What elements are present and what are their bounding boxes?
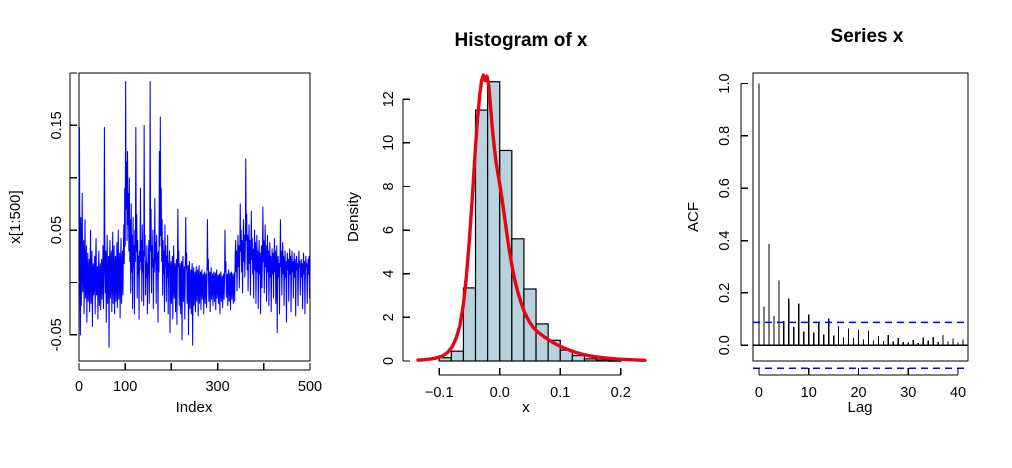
histogram-bar — [597, 360, 609, 361]
y-tick-label: 1.0 — [717, 73, 733, 93]
acf-title: Series x — [831, 26, 904, 47]
acf-plot-panel: Series x 0.00.20.40.60.81.0 010203040 La… — [676, 0, 1012, 468]
y-tick-label: 0 — [381, 357, 397, 365]
acf-spikes — [759, 83, 963, 345]
r-figure-panel-grid: -0.050.050.15 0100300500 Index x[1:500] … — [0, 0, 1012, 468]
y-tick-label: 2 — [381, 313, 397, 321]
histogram-bar — [572, 356, 584, 361]
histogram-bar — [584, 359, 596, 361]
x-tick-label: −0.1 — [425, 385, 454, 401]
y-tick-label: 0.6 — [717, 178, 733, 198]
y-tick-label: 0.8 — [717, 126, 733, 146]
timeseries-xlabel: Index — [176, 399, 213, 416]
x-tick-label: 0.1 — [550, 385, 570, 401]
timeseries-data-line — [79, 81, 310, 347]
x-tick-label: 0 — [75, 379, 83, 395]
y-tick-label: 10 — [381, 135, 397, 151]
histogram-title: Histogram of x — [454, 30, 587, 51]
acf-plot-box — [753, 73, 968, 361]
x-tick-label: 100 — [113, 379, 137, 395]
x-tick-label: 0 — [755, 385, 763, 401]
acf-ylabel: ACF — [685, 202, 702, 232]
histogram-bar — [536, 324, 548, 361]
x-tick-label: 40 — [950, 385, 966, 401]
y-tick-label: 0.4 — [717, 230, 733, 250]
y-tick-label: 12 — [381, 91, 397, 107]
timeseries-svg: -0.050.050.15 0100300500 Index x[1:500] — [0, 0, 340, 468]
acf-svg: Series x 0.00.20.40.60.81.0 010203040 La… — [676, 0, 1012, 468]
x-tick-label: 0.2 — [611, 385, 631, 401]
histogram-svg: Histogram of x 024681012 −0.10.00.10.2 x… — [336, 0, 676, 468]
x-tick-label: 300 — [205, 379, 229, 395]
y-tick-label: 0.0 — [717, 335, 733, 355]
histogram-ylabel: Density — [345, 191, 362, 242]
histogram-y-axis: 024681012 — [381, 91, 410, 365]
x-tick-label: 0.0 — [490, 385, 510, 401]
x-tick-label: 500 — [298, 379, 322, 395]
y-tick-label: 4 — [381, 270, 397, 278]
histogram-bar — [451, 351, 463, 361]
timeseries-x-axis: 0100300500 — [75, 363, 322, 395]
timeseries-ylabel: x[1:500] — [7, 190, 24, 243]
timeseries-plot-box — [79, 73, 310, 361]
y-tick-label: -0.05 — [49, 318, 65, 351]
x-tick-label: 30 — [900, 385, 916, 401]
histogram-xlabel: x — [522, 399, 530, 416]
histogram-bar — [512, 239, 524, 361]
y-tick-label: 0.2 — [717, 283, 733, 303]
acf-x-axis: 010203040 — [755, 368, 966, 401]
timeseries-plot-panel: -0.050.050.15 0100300500 Index x[1:500] — [0, 0, 340, 468]
x-tick-label: 10 — [801, 385, 817, 401]
histogram-plot-panel: Histogram of x 024681012 −0.10.00.10.2 x… — [336, 0, 676, 468]
histogram-bar — [476, 110, 488, 361]
acf-y-axis: 0.00.20.40.60.81.0 — [717, 73, 748, 355]
histogram-x-axis: −0.10.00.10.2 — [425, 368, 631, 401]
histogram-bars — [439, 82, 621, 361]
histogram-bar — [488, 82, 500, 361]
y-tick-label: 0.15 — [49, 111, 65, 139]
y-tick-label: 8 — [381, 182, 397, 190]
y-tick-label: 0.05 — [49, 216, 65, 244]
y-tick-label: 6 — [381, 226, 397, 234]
timeseries-y-axis: -0.050.050.15 — [49, 73, 77, 351]
acf-xlabel: Lag — [847, 399, 872, 416]
